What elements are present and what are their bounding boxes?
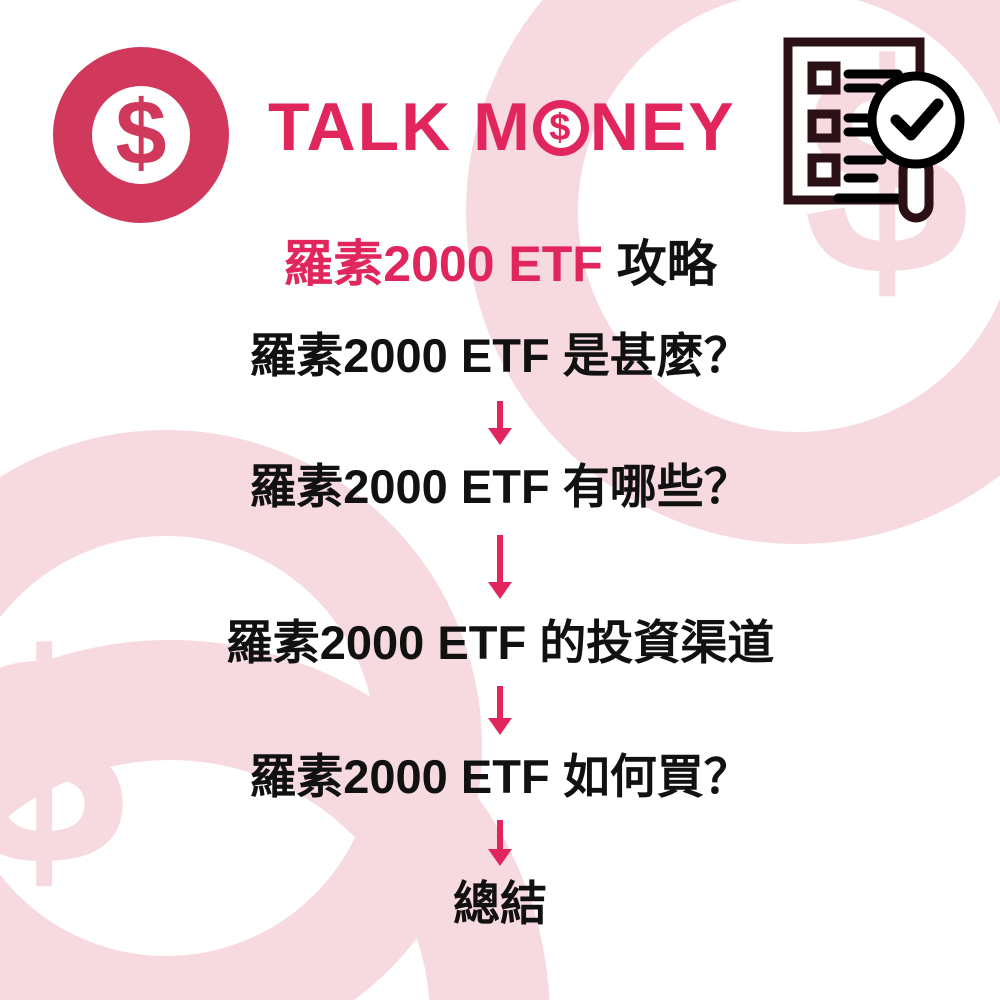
flow-step-1: 羅素2000 ETF 是甚麼？ (249, 330, 750, 383)
arrow-shaft (497, 686, 503, 719)
arrow-head (488, 582, 512, 599)
arrow-down-icon-1 (493, 401, 507, 445)
wordmark-text-part1: TALK M (268, 93, 532, 161)
checklist-magnifier-check-icon (770, 30, 970, 230)
arrow-down-icon-2 (493, 535, 507, 599)
arrow-down-icon-4 (493, 820, 507, 866)
page-title: 羅素2000 ETF 攻略 (0, 236, 1000, 294)
wordmark-text-part2: NEY (590, 93, 736, 161)
dollar-coin-icon: $ (53, 47, 229, 223)
arrow-shaft (497, 401, 503, 429)
page-title-accent: 羅素2000 ETF (283, 236, 603, 292)
brand-wordmark: TALK M $ NEY (268, 93, 736, 161)
page-title-dark: 攻略 (617, 236, 717, 292)
arrow-shaft (497, 535, 503, 583)
wordmark-coin-dollar-symbol: $ (533, 100, 589, 156)
coin-dollar-symbol: $ (53, 47, 229, 223)
arrow-head (488, 718, 512, 735)
flow-step-2: 羅素2000 ETF 有哪些？ (249, 461, 750, 514)
header: $ TALK M $ NEY (0, 0, 1000, 240)
arrow-head (488, 849, 512, 866)
arrow-head (488, 428, 512, 445)
arrow-shaft (497, 820, 503, 850)
wordmark-coin-o-icon: $ (533, 100, 589, 156)
arrow-down-icon-3 (493, 686, 507, 735)
flow-step-3: 羅素2000 ETF 的投資渠道 (226, 617, 774, 670)
flow-diagram: 羅素2000 ETF 是甚麼？ 羅素2000 ETF 有哪些？ 羅素2000 E… (0, 330, 1000, 930)
flow-step-4: 羅素2000 ETF 如何買？ (249, 751, 750, 804)
flow-step-5: 總結 (453, 878, 547, 931)
